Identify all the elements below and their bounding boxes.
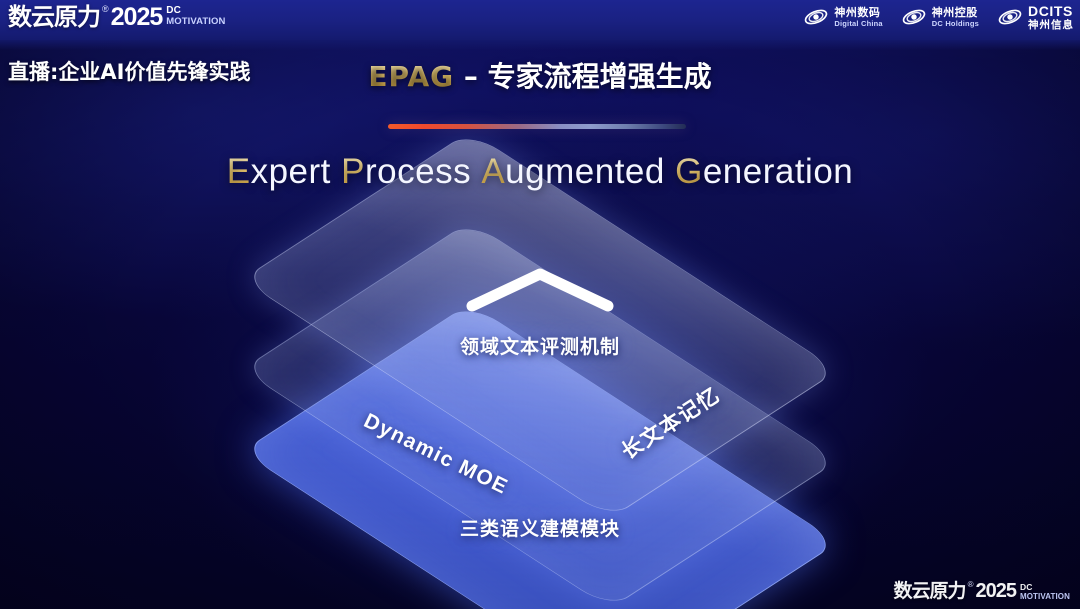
subtitle-space-1 [331, 152, 341, 191]
watermark-year: 2025 [975, 579, 1016, 603]
subtitle-cap-g: G [675, 152, 703, 191]
slide-subtitle: Expert Process Augmented Generation [0, 152, 1080, 192]
diagram-layer-top-label: 领域文本评测机制 [0, 332, 1080, 359]
partner-name-cn: 神州控股 [932, 7, 979, 18]
subtitle-rest-expert: xpert [251, 152, 331, 191]
watermark-registered-mark: ® [968, 579, 974, 590]
brand-registered-mark: ® [102, 2, 109, 16]
subtitle-cap-a: A [481, 152, 505, 191]
partner-logo-group: 神州数码 Digital China 神州控股 DC Holdings [803, 4, 1074, 31]
layered-architecture-diagram: 领域文本评测机制 Dynamic MOE 长文本记忆 三类语义建模模块 [0, 222, 1080, 562]
subtitle-cap-e: E [227, 152, 251, 191]
swirl-icon [997, 4, 1023, 30]
partner-label: 神州数码 Digital China [834, 7, 882, 28]
partner-logo-digital-china: 神州数码 Digital China [803, 4, 882, 30]
watermark-dc-label: DC [1020, 583, 1070, 592]
brand-motivation-label: MOTIVATION [166, 17, 225, 27]
brand-name-cn: 数云原力 [8, 2, 100, 32]
partner-name-en: DC Holdings [932, 20, 979, 28]
subtitle-rest-augmented: ugmented [505, 152, 665, 191]
live-stream-label: 直播:企业AI价值先锋实践 [8, 56, 250, 86]
partner-name-cn: 神州数码 [834, 7, 882, 18]
brand-logo: 数云原力 ® 2025 DC MOTIVATION [8, 2, 226, 32]
headline-acronym: EPAG [368, 60, 454, 93]
subtitle-space-3 [665, 152, 675, 191]
partner-logo-dcits: DCITS 神州信息 [997, 4, 1074, 31]
subtitle-space-2 [471, 152, 481, 191]
diagram-layer-bottom-label: 三类语义建模模块 [0, 514, 1080, 541]
subtitle-rest-generation: eneration [703, 152, 853, 191]
brand-dc-label: DC [166, 6, 225, 16]
footer-watermark: 数云原力 ® 2025 DC MOTIVATION [894, 579, 1070, 603]
subtitle-rest-process: rocess [365, 152, 471, 191]
watermark-dc-motivation: DC MOTIVATION [1020, 583, 1070, 601]
partner-label: 神州控股 DC Holdings [932, 7, 979, 28]
partner-label: DCITS 神州信息 [1028, 4, 1074, 31]
watermark-motivation-label: MOTIVATION [1020, 593, 1070, 601]
brand-year: 2025 [111, 2, 163, 32]
subtitle-cap-p: P [341, 152, 365, 191]
headline-chinese: 专家流程增强生成 [488, 60, 712, 93]
partner-name-en: Digital China [834, 20, 882, 28]
slide-canvas: 数云原力 ® 2025 DC MOTIVATION 直播:企业AI价值先锋实践 [0, 0, 1080, 609]
chevron-up-icon [462, 264, 618, 316]
swirl-icon [901, 4, 927, 30]
headline-separator: – [454, 60, 488, 93]
brand-dc-motivation: DC MOTIVATION [166, 6, 225, 27]
gradient-divider [388, 124, 686, 129]
partner-name-cn: 神州信息 [1028, 20, 1074, 31]
partner-name-en: DCITS [1028, 4, 1074, 18]
swirl-icon [803, 4, 829, 30]
partner-logo-dc-holdings: 神州控股 DC Holdings [901, 4, 979, 30]
watermark-name-cn: 数云原力 [894, 579, 966, 603]
